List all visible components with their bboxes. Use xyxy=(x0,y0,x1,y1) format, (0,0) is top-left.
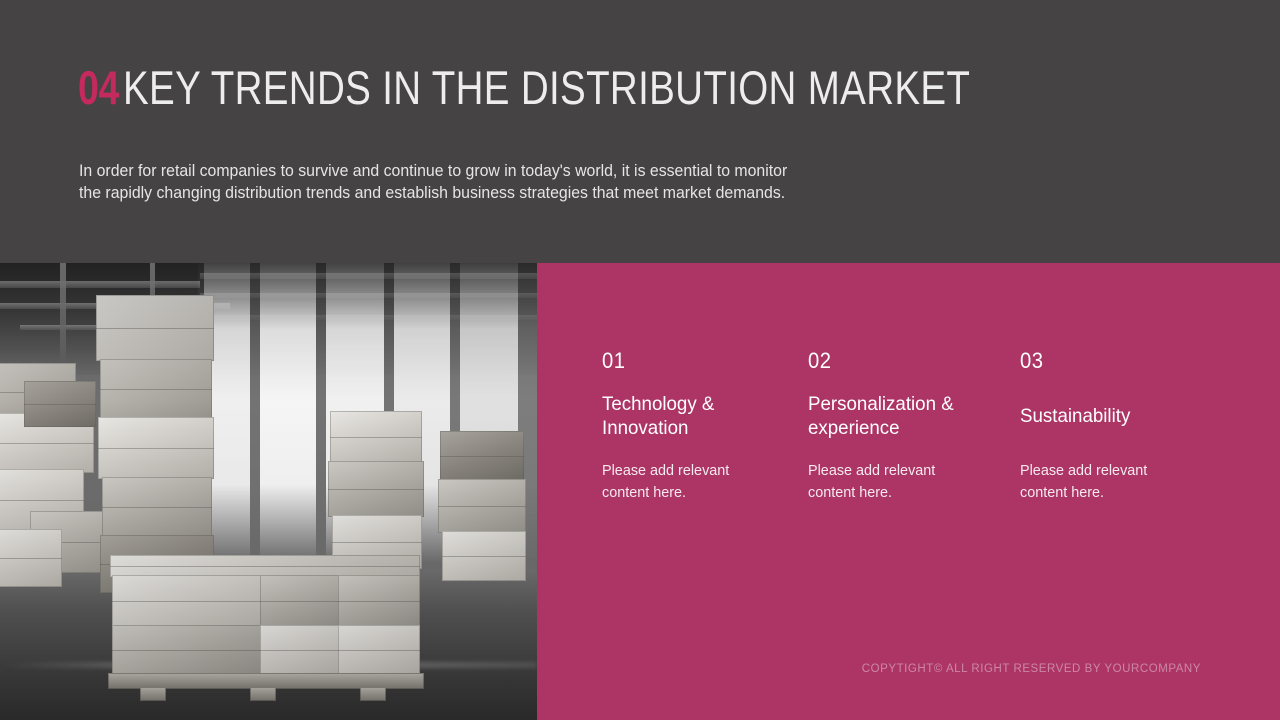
warehouse-photo xyxy=(0,263,537,720)
trend-number: 03 xyxy=(1020,350,1190,372)
subtitle-line-1: In order for retail companies to survive… xyxy=(79,160,943,182)
presentation-slide: 04 KEY TRENDS IN THE DISTRIBUTION MARKET… xyxy=(0,0,1280,720)
title-text: KEY TRENDS IN THE DISTRIBUTION MARKET xyxy=(123,64,970,111)
subtitle: In order for retail companies to survive… xyxy=(79,160,943,204)
trend-body: Please add relevant content here. xyxy=(602,460,780,504)
copyright-footer: COPYTIGHT© ALL RIGHT RESERVED BY YOURCOM… xyxy=(537,663,1201,675)
trend-column-3: 03 Sustainability Please add relevant co… xyxy=(1020,350,1205,504)
section-number: 04 xyxy=(78,64,119,111)
trend-heading: Personalization & experience xyxy=(808,391,986,441)
trend-number: 02 xyxy=(808,350,978,372)
page-title: 04 KEY TRENDS IN THE DISTRIBUTION MARKET xyxy=(78,64,1157,111)
trend-column-1: 01 Technology & Innovation Please add re… xyxy=(602,350,787,504)
slide-body: 01 Technology & Innovation Please add re… xyxy=(0,263,1280,720)
trend-body: Please add relevant content here. xyxy=(1020,460,1198,504)
subtitle-line-2: the rapidly changing distribution trends… xyxy=(79,182,943,204)
trend-body: Please add relevant content here. xyxy=(808,460,986,504)
content-panel: 01 Technology & Innovation Please add re… xyxy=(537,263,1280,720)
trend-heading: Sustainability xyxy=(1020,391,1198,441)
trend-heading: Technology & Innovation xyxy=(602,391,780,441)
slide-header: 04 KEY TRENDS IN THE DISTRIBUTION MARKET… xyxy=(0,0,1280,263)
trend-number: 01 xyxy=(602,350,772,372)
photo-tint-overlay xyxy=(0,263,537,720)
trend-column-2: 02 Personalization & experience Please a… xyxy=(808,350,993,504)
